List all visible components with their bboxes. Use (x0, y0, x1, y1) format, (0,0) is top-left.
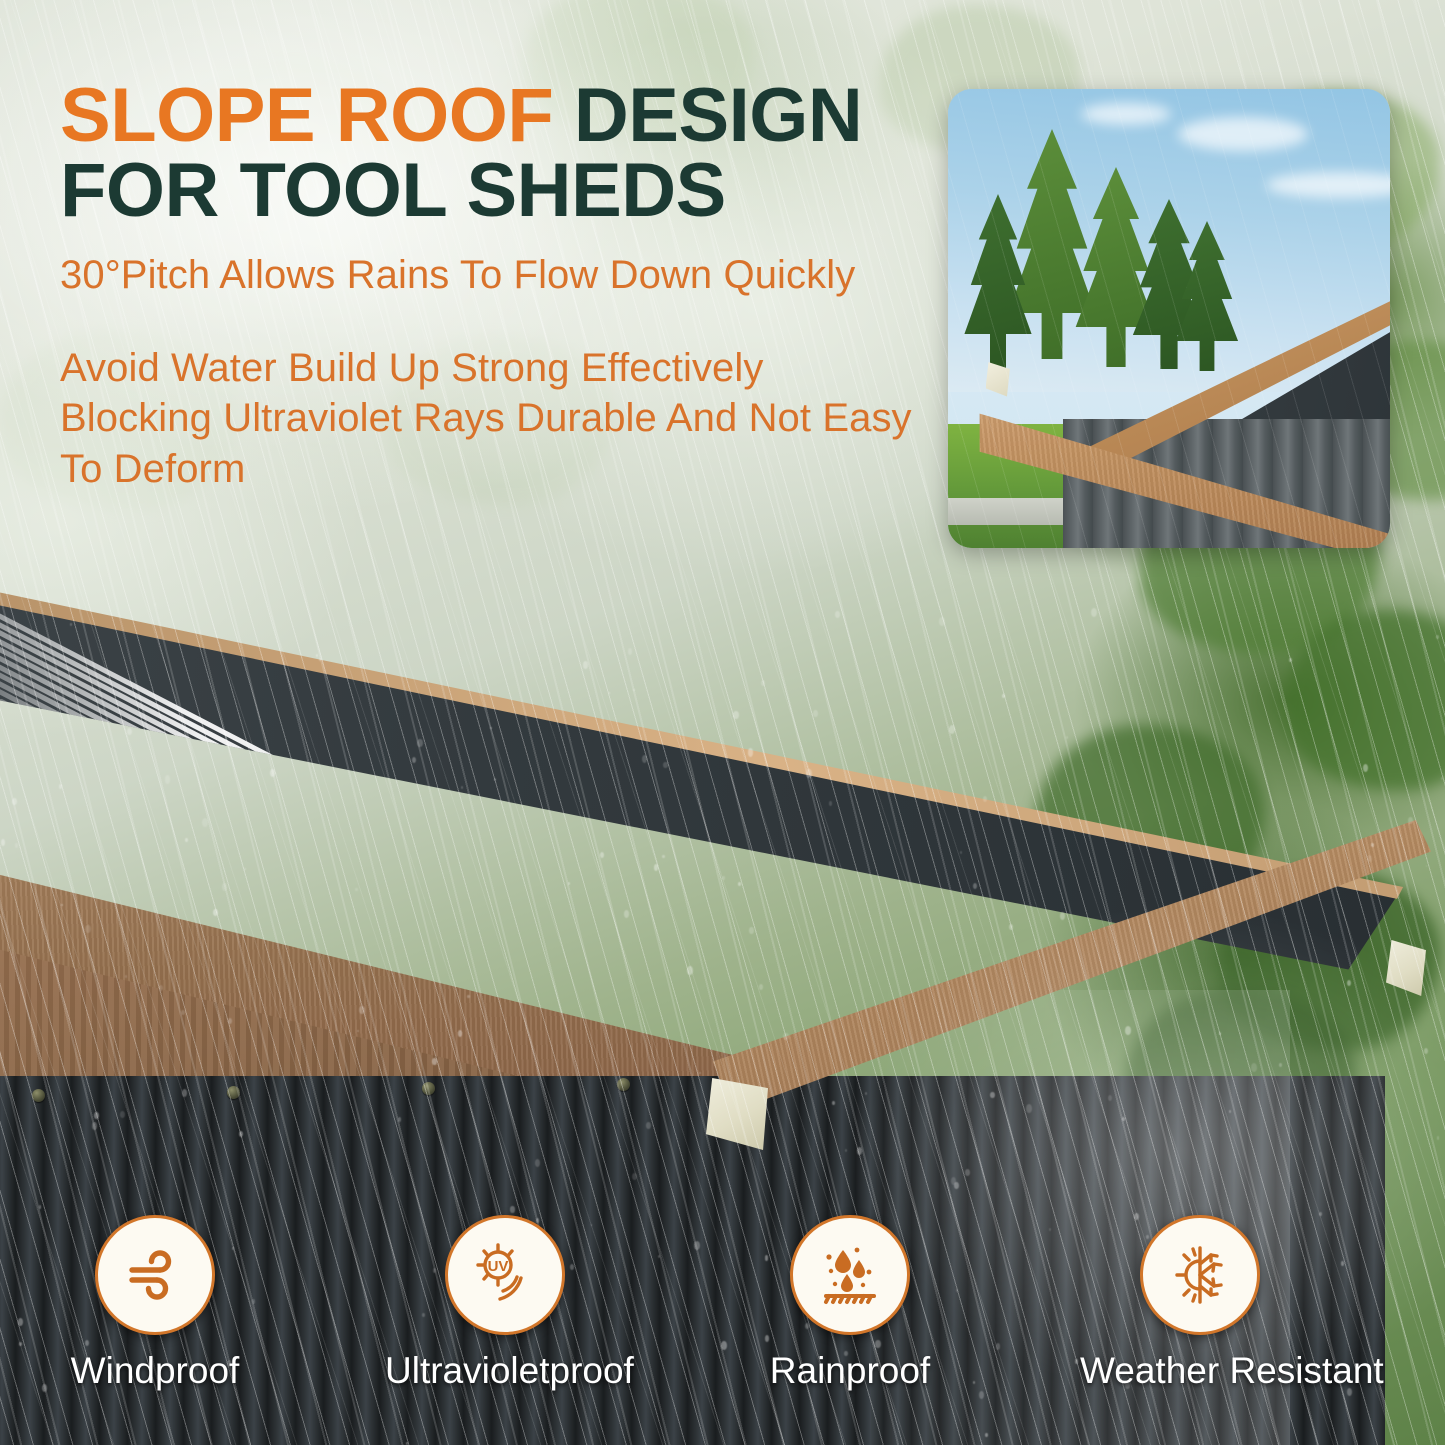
water-droplet (494, 778, 496, 781)
inset-rain-overlay (948, 89, 1390, 548)
water-droplet (628, 648, 632, 654)
water-droplet (61, 904, 63, 907)
water-droplet (1289, 658, 1291, 662)
water-droplet (835, 611, 840, 618)
water-droplet (949, 725, 955, 734)
water-droplet (662, 855, 664, 859)
water-droplet (632, 1173, 637, 1180)
water-droplet (857, 1147, 863, 1155)
water-droplet (1002, 694, 1005, 698)
water-droplet (15, 843, 18, 848)
water-droplet (165, 775, 170, 783)
wind-icon-badge (95, 1215, 215, 1335)
water-droplet (1371, 843, 1374, 847)
water-droplet (461, 786, 463, 789)
water-droplet (845, 1149, 847, 1152)
water-droplet (185, 838, 188, 842)
water-droplet (417, 739, 423, 748)
water-droplet (1408, 817, 1413, 824)
water-droplet (94, 1112, 98, 1119)
water-droplet (832, 1101, 835, 1105)
feature-ultravioletproof: UV Ultravioletproof (385, 1215, 625, 1392)
water-droplet (583, 661, 588, 668)
water-droplet (1026, 1104, 1032, 1113)
product-feature-banner: SLOPE ROOF DESIGN FOR TOOL SHEDS 30°Pitc… (0, 0, 1445, 1445)
water-droplet (125, 975, 127, 978)
water-droplet (270, 769, 275, 777)
wind-icon (119, 1239, 191, 1311)
water-droplet (1009, 924, 1013, 930)
water-droplet (973, 883, 977, 889)
water-droplet (1060, 912, 1066, 920)
water-droplet (1347, 980, 1351, 986)
water-droplet (633, 689, 635, 692)
water-droplet (127, 728, 132, 735)
water-droplet (92, 1122, 97, 1129)
headline-highlight: SLOPE ROOF (60, 73, 553, 158)
body-paragraph-1: 30°Pitch Allows Rains To Flow Down Quick… (60, 250, 920, 300)
sun-snowflake-icon-badge (1140, 1215, 1260, 1335)
water-droplet (939, 617, 945, 626)
feature-icon-row: Windproof U (0, 1215, 1445, 1445)
water-droplet (1367, 855, 1372, 862)
water-droplet (1363, 764, 1368, 772)
water-droplet (244, 868, 246, 870)
page-title: SLOPE ROOF DESIGN FOR TOOL SHEDS (60, 78, 920, 228)
water-droplet (759, 984, 763, 990)
water-droplet (159, 985, 163, 991)
water-droplet (12, 798, 17, 805)
water-droplet (1125, 1026, 1131, 1035)
water-droplet (120, 1111, 125, 1118)
water-droplet (39, 1205, 41, 1208)
water-droplet (1122, 1117, 1125, 1121)
water-droplet (748, 748, 754, 757)
water-droplet (829, 801, 832, 806)
water-droplet (467, 995, 469, 999)
water-droplet (965, 1169, 970, 1177)
water-droplet (1219, 1032, 1221, 1035)
water-droplet (213, 909, 218, 917)
water-droplet (990, 1092, 994, 1099)
water-droplet (1, 839, 5, 845)
water-droplet (202, 818, 208, 827)
feature-label: Rainproof (730, 1351, 970, 1392)
water-droplet (458, 1030, 463, 1037)
water-droplet (1437, 1136, 1440, 1140)
water-droplet (663, 762, 667, 768)
water-droplet (642, 755, 647, 763)
water-droplet (490, 727, 492, 729)
water-droplet (749, 927, 753, 933)
uv-sun-icon: UV (467, 1237, 543, 1313)
water-droplet (319, 658, 321, 661)
water-droplet (1091, 608, 1097, 617)
water-droplet (1441, 777, 1443, 780)
feature-windproof: Windproof (35, 1215, 275, 1392)
water-droplet (181, 1010, 185, 1015)
feature-weather-resistant: Weather Resistant (1080, 1215, 1320, 1392)
water-droplet (510, 1206, 514, 1212)
water-droplet (960, 851, 962, 854)
water-droplet (228, 1018, 232, 1024)
water-droplet (1059, 941, 1061, 943)
water-droplet (70, 623, 72, 625)
water-droplet (357, 1030, 359, 1032)
feature-rainproof: Rainproof (730, 1215, 970, 1392)
water-droplet (1424, 1048, 1428, 1054)
water-droplet (699, 1072, 701, 1074)
water-droplet (983, 796, 987, 803)
feature-label: Ultravioletproof (385, 1351, 625, 1392)
water-droplet (359, 1006, 365, 1015)
water-droplet (1279, 1063, 1282, 1067)
inset-detail-photo (948, 89, 1390, 548)
water-droplet (865, 1092, 867, 1095)
water-droplet (412, 757, 416, 763)
water-droplet (722, 876, 725, 881)
water-droplet (398, 1117, 401, 1122)
water-droplet (733, 711, 738, 719)
water-droplet (738, 882, 741, 886)
water-droplet (600, 852, 604, 858)
water-droplet (687, 966, 693, 974)
water-drops-surface-icon (813, 1238, 887, 1312)
feature-label: Windproof (35, 1351, 275, 1392)
water-droplet (609, 692, 611, 694)
water-droplet (1, 702, 3, 705)
water-droplet (1066, 736, 1068, 739)
water-droplet (316, 654, 318, 657)
water-droplet (806, 769, 811, 777)
water-droplet (239, 1131, 243, 1137)
water-droplet (624, 910, 629, 917)
sun-snowflake-icon (1163, 1238, 1237, 1312)
water-droplet (954, 1182, 959, 1189)
water-droplet (1251, 1063, 1257, 1072)
water-droplet (761, 680, 765, 686)
water-droplet (222, 883, 228, 891)
feature-label: Weather Resistant (1080, 1351, 1320, 1392)
water-droplet (783, 1033, 788, 1041)
uv-sun-icon-badge: UV (445, 1215, 565, 1335)
water-droplet (154, 603, 156, 606)
water-drops-surface-icon-badge (790, 1215, 910, 1335)
water-droplet (654, 864, 658, 871)
water-droplet (813, 710, 817, 717)
water-droplet (59, 784, 62, 789)
water-droplet (646, 1122, 651, 1129)
body-paragraph-2: Avoid Water Build Up Strong Effectively … (60, 343, 920, 494)
uv-text: UV (488, 1258, 509, 1275)
marketing-copy-block: SLOPE ROOF DESIGN FOR TOOL SHEDS 30°Pitc… (60, 78, 920, 494)
water-droplet (1426, 865, 1428, 868)
water-droplet (535, 1159, 541, 1167)
headline-rest: DESIGN (574, 73, 862, 158)
water-droplet (85, 925, 91, 934)
water-droplet (432, 1058, 436, 1064)
headline-line2: FOR TOOL SHEDS (60, 148, 726, 233)
water-droplet (1436, 635, 1439, 640)
water-droplet (182, 1089, 187, 1097)
water-droplet (568, 882, 570, 885)
water-droplet (1108, 1095, 1112, 1101)
water-droplet (355, 888, 357, 891)
water-droplet (1229, 1110, 1231, 1113)
